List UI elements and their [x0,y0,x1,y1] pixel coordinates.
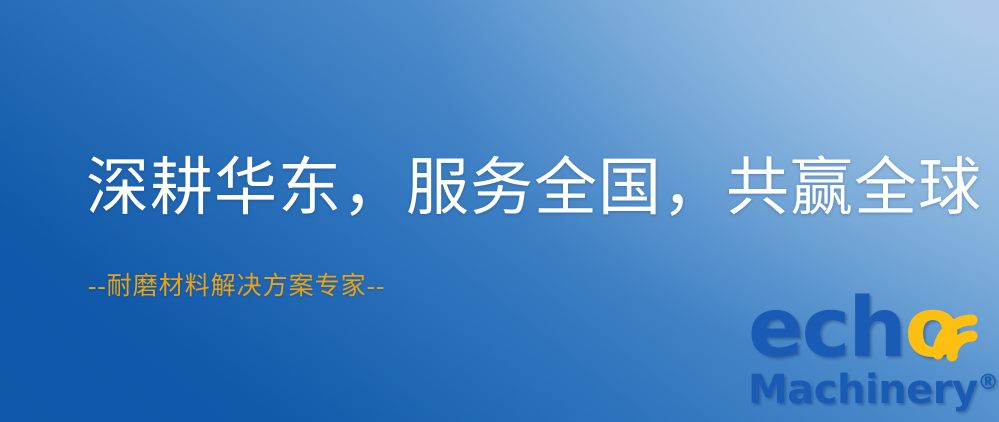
logo-tagline: Machinery® [748,370,999,410]
banner-subtitle: --耐磨材料解决方案专家-- [88,266,385,302]
registered-trademark-icon: ® [978,370,999,394]
signal-waves-icon [928,292,999,368]
hero-banner: 深耕华东，服务全国，共赢全球 --耐磨材料解决方案专家-- echo Machi… [0,0,999,422]
logo-tagline-text: Machinery [748,367,978,413]
logo-wordmark-ech: ech [748,281,905,376]
echo-machinery-logo[interactable]: echo Machinery® [742,292,999,422]
banner-headline: 深耕华东，服务全国，共赢全球 [86,155,982,221]
